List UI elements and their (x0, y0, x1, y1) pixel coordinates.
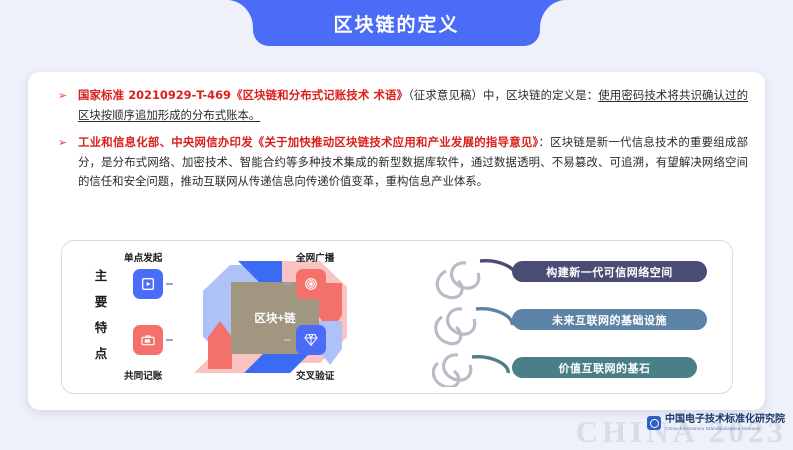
content-card: ➢ 国家标准 20210929-T-469《区块链和分布式记账技术 术语》（征求… (28, 72, 765, 410)
bullet-lead: 工业和信息化部、中央网信办印发《关于加快推动区块链技术应用和产业发展的指导意见》 (78, 135, 538, 149)
connector-dash-shared-ledger (166, 339, 173, 341)
briefcase-icon (140, 332, 156, 348)
banner-trusted-network[interactable]: 构建新一代可信网络空间 (512, 261, 707, 282)
banner-group: 构建新一代可信网络空间 未来互联网的基础设施 价值互联网的基石 (432, 247, 724, 387)
banner-label: 构建新一代可信网络空间 (546, 264, 673, 280)
slide-title-banner: 区块链的定义 (253, 0, 540, 46)
play-icon (140, 276, 156, 292)
bullet-mid: （征求意见稿）中，区块链的定义是： (408, 88, 598, 102)
org-name-cn: 中国电子技术标准化研究院 (665, 414, 785, 425)
connector-dash-broadcast (284, 283, 291, 285)
caption-single-point: 单点发起 (124, 250, 162, 264)
logo-mark-icon (647, 416, 661, 430)
connector-dash-cross-verify (284, 339, 291, 341)
org-name-en: China Electronics Standardization Instit… (665, 425, 785, 432)
node-broadcast[interactable] (296, 269, 326, 299)
bullet-arrow-icon: ➢ (58, 89, 67, 103)
diamond-icon (303, 332, 319, 348)
org-logo-text: 中国电子技术标准化研究院 China Electronics Standardi… (665, 414, 785, 432)
diagram-panel: 主 要 特 点 (61, 240, 733, 394)
bullet-lead: 国家标准 20210929-T-469《区块链和分布式记账技术 术语》 (78, 88, 408, 102)
node-cross-verify[interactable] (296, 325, 326, 355)
diagram-vertical-label: 主 要 特 点 (90, 263, 112, 367)
banner-shoulder-left (227, 0, 253, 28)
bullet-national-standard: ➢ 国家标准 20210929-T-469《区块链和分布式记账技术 术语》（征求… (58, 86, 748, 125)
org-logo: 中国电子技术标准化研究院 China Electronics Standardi… (647, 414, 785, 432)
banner-label: 未来互联网的基础设施 (552, 312, 667, 328)
node-single-point[interactable] (133, 269, 163, 299)
banner-cornerstone[interactable]: 价值互联网的基石 (512, 357, 697, 378)
vertical-label-char: 要 (90, 289, 112, 315)
caption-cross-verify: 交叉验证 (296, 368, 334, 382)
caption-broadcast: 全网广播 (296, 250, 334, 264)
bullet-arrow-icon: ➢ (58, 136, 67, 150)
vertical-label-char: 主 (90, 263, 112, 289)
chevron-ring-svg (170, 245, 380, 390)
banner-infrastructure[interactable]: 未来互联网的基础设施 (512, 309, 707, 330)
bullet-list: ➢ 国家标准 20210929-T-469《区块链和分布式记账技术 术语》（征求… (58, 86, 748, 200)
bullet-text: 工业和信息化部、中央网信办印发《关于加快推动区块链技术应用和产业发展的指导意见》… (78, 133, 748, 192)
chevron-ring (170, 245, 380, 390)
bullet-miit-guidance: ➢ 工业和信息化部、中央网信办印发《关于加快推动区块链技术应用和产业发展的指导意… (58, 133, 748, 192)
node-shared-ledger[interactable] (133, 325, 163, 355)
vertical-label-char: 点 (90, 341, 112, 367)
connector-dash-single-point (166, 283, 173, 285)
target-icon (303, 276, 319, 292)
banner-label: 价值互联网的基石 (559, 360, 651, 376)
caption-shared-ledger: 共同记账 (124, 368, 162, 382)
page-title: 区块链的定义 (333, 10, 459, 37)
banner-shoulder-right (540, 0, 566, 28)
vertical-label-char: 特 (90, 315, 112, 341)
bullet-text: 国家标准 20210929-T-469《区块链和分布式记账技术 术语》（征求意见… (78, 86, 748, 125)
